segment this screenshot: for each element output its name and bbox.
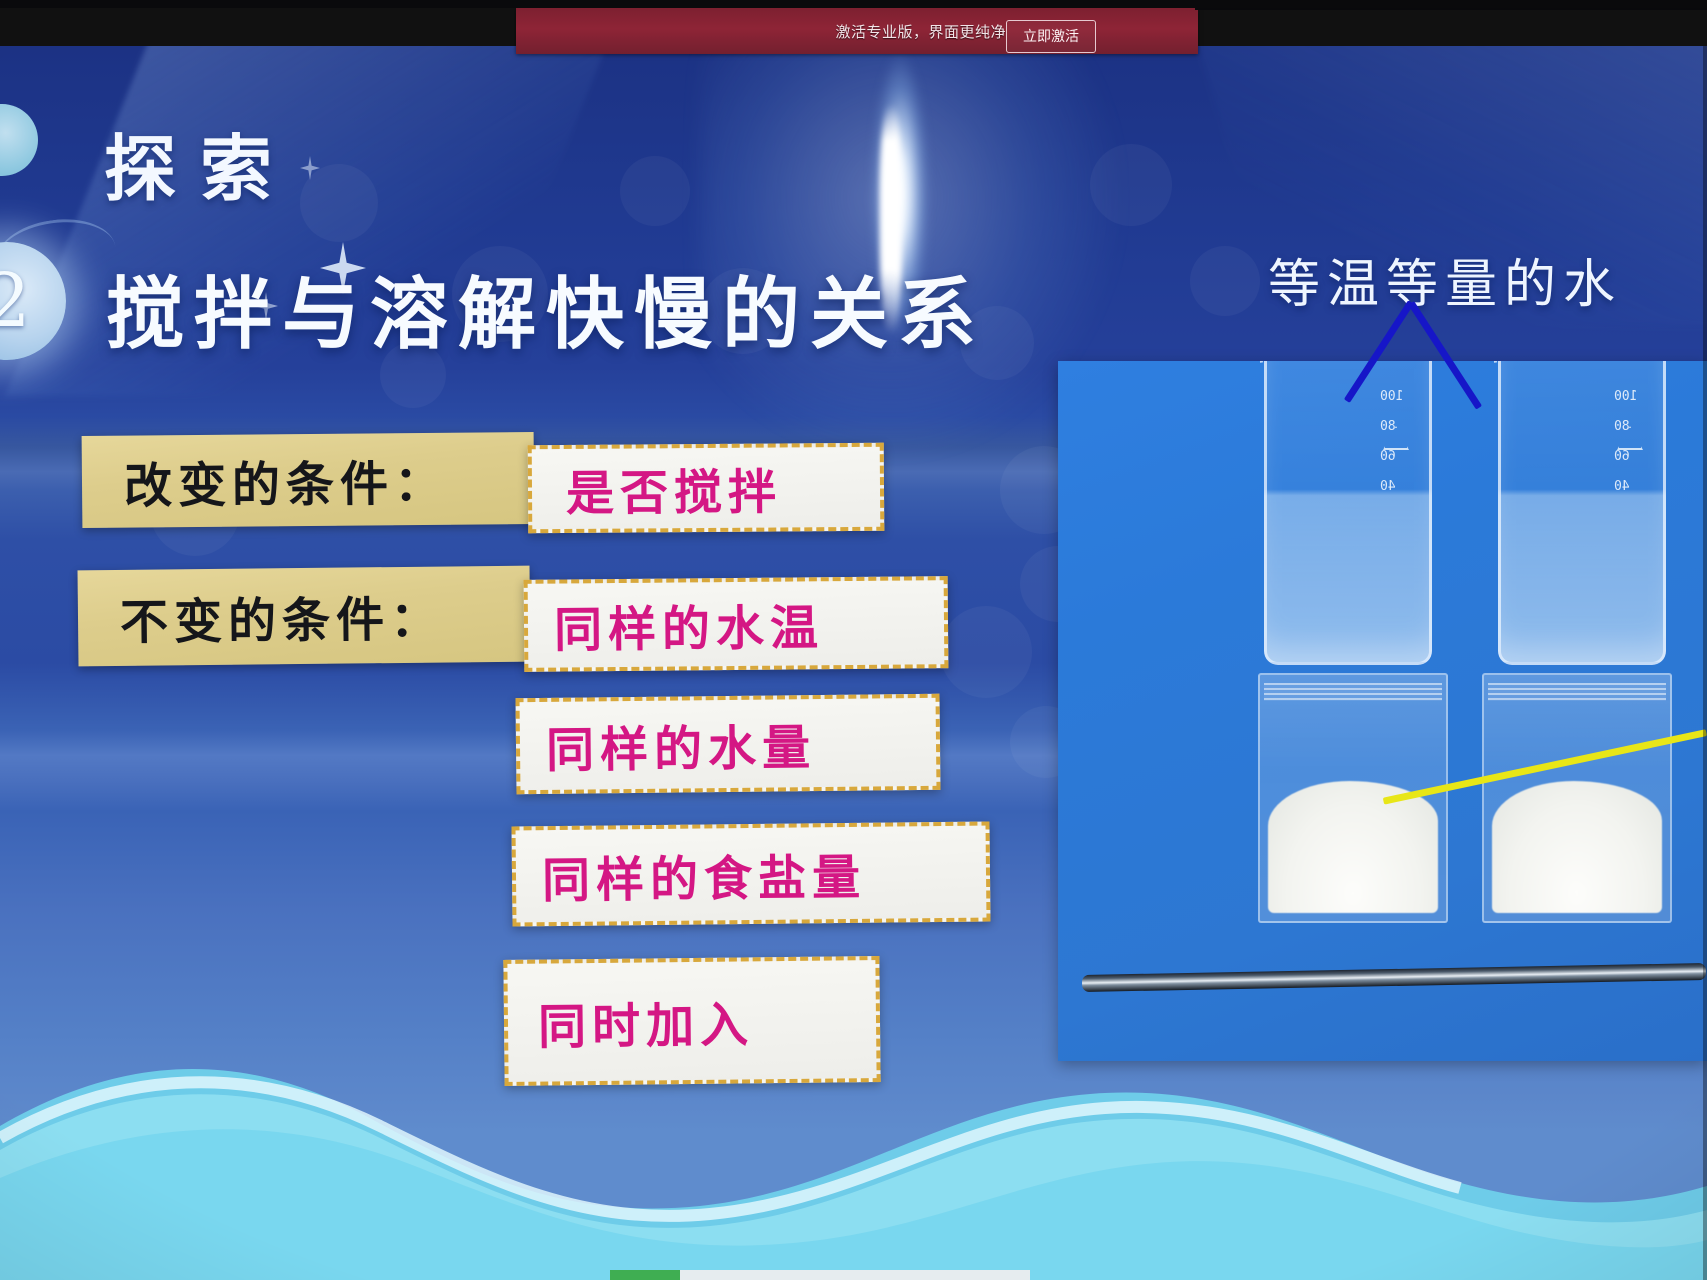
wave-back bbox=[0, 1069, 1707, 1280]
salt-bag-zip bbox=[1264, 683, 1442, 701]
bokeh-circle bbox=[620, 156, 690, 226]
salt-contents bbox=[1268, 781, 1438, 913]
presentation-slide: 2 探索 搅拌与溶解快慢的关系 等温等量的水 100806040 1008060… bbox=[0, 46, 1707, 1280]
salt-contents bbox=[1492, 781, 1662, 913]
answer-card-add-simultaneously-text: 同时加入 bbox=[538, 985, 755, 1057]
wave-highlight bbox=[0, 1082, 1460, 1216]
decorative-circle bbox=[0, 104, 38, 176]
answer-card-water-temp-text: 同样的水温 bbox=[554, 588, 825, 660]
answer-card-water-amount-text: 同样的水量 bbox=[546, 708, 817, 781]
bokeh-circle bbox=[1190, 246, 1260, 316]
activation-message: 激活专业版，界面更纯净 bbox=[835, 21, 1006, 42]
salt-bag-zip bbox=[1488, 683, 1666, 701]
glass-stir-rod bbox=[1082, 963, 1706, 992]
activate-now-button[interactable]: 立即激活 bbox=[1006, 20, 1096, 53]
condition-label-unchanged: 不变的条件： bbox=[78, 566, 531, 667]
experiment-photo: 100806040 100806040 bbox=[1058, 361, 1707, 1061]
answer-card-salt-amount: 同样的食盐量 bbox=[511, 822, 990, 927]
answer-card-water-temp: 同样的水温 bbox=[524, 576, 949, 672]
screen-photo: 激活专业版，界面更纯净 立即激活 2 探索 搅拌与溶解快 bbox=[0, 0, 1707, 1280]
condition-label-unchanged-text: 不变的条件： bbox=[120, 580, 445, 653]
monitor-bezel-top bbox=[0, 0, 1707, 8]
salt-bag-left bbox=[1258, 673, 1448, 923]
wave-mid bbox=[0, 1094, 1707, 1280]
right-caption: 等温等量的水 bbox=[1268, 242, 1622, 317]
progress-bar-fill bbox=[610, 1270, 680, 1280]
bokeh-circle bbox=[300, 164, 378, 242]
condition-label-changed-text: 改变的条件： bbox=[124, 444, 449, 517]
salt-bag-right bbox=[1482, 673, 1672, 923]
activation-banner: 激活专业版，界面更纯净 立即激活 bbox=[516, 8, 1198, 54]
answer-card-salt-amount-text: 同样的食盐量 bbox=[542, 838, 867, 911]
monitor-edge-right bbox=[1703, 46, 1707, 1280]
section-label: 探索 bbox=[104, 110, 296, 215]
wave-front bbox=[0, 1129, 1707, 1280]
beaker-left: 100806040 bbox=[1264, 361, 1432, 665]
progress-bar-track[interactable] bbox=[610, 1270, 1030, 1280]
answer-card-changed: 是否搅拌 bbox=[528, 443, 885, 533]
bokeh-circle bbox=[940, 606, 1032, 698]
beaker-right: 100806040 bbox=[1498, 361, 1666, 665]
lamp-glare-halo bbox=[700, 46, 1120, 456]
answer-card-water-amount: 同样的水量 bbox=[516, 694, 941, 794]
page-title: 搅拌与溶解快慢的关系 bbox=[106, 252, 986, 364]
answer-card-changed-text: 是否搅拌 bbox=[566, 452, 782, 524]
answer-card-add-simultaneously: 同时加入 bbox=[503, 956, 880, 1086]
condition-label-changed: 改变的条件： bbox=[82, 432, 535, 528]
